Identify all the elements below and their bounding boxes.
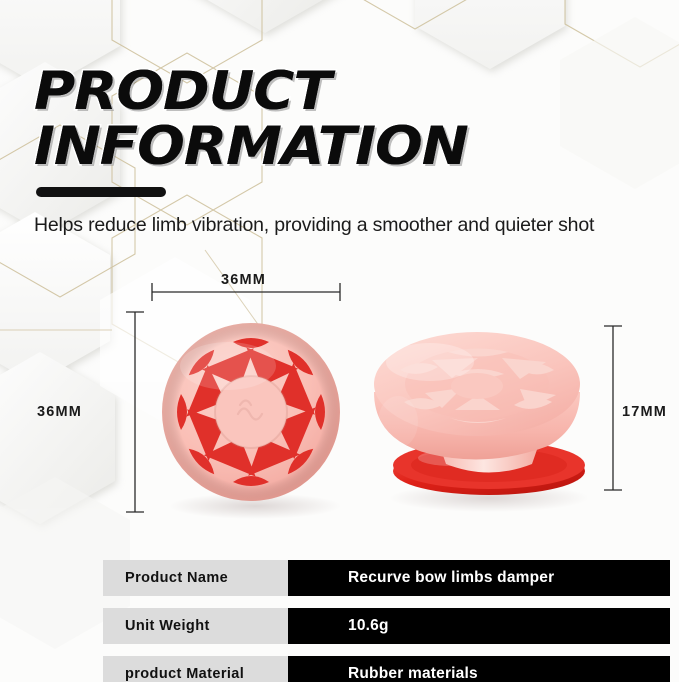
title-line-information: INFORMATION bbox=[34, 123, 679, 172]
spec-table: Product Name Recurve bow limbs damper Un… bbox=[103, 560, 679, 682]
dimension-label-width: 36MM bbox=[221, 272, 266, 288]
dimension-label-height: 36MM bbox=[37, 404, 82, 420]
product-information-page: PRODUCT INFORMATION Helps reduce limb vi… bbox=[0, 0, 679, 682]
subtitle-text: Helps reduce limb vibration, providing a… bbox=[34, 214, 664, 237]
spec-label-unit-weight: Unit Weight bbox=[103, 608, 288, 644]
spec-label-product-name: Product Name bbox=[103, 560, 288, 596]
title-line-product: PRODUCT bbox=[34, 68, 679, 117]
side-view-damper bbox=[374, 332, 589, 512]
dimension-label-thickness: 17MM bbox=[622, 404, 667, 420]
spec-value-unit-weight: 10.6g bbox=[288, 608, 670, 644]
page-title: PRODUCT INFORMATION bbox=[34, 68, 654, 172]
table-row: Product Name Recurve bow limbs damper bbox=[103, 560, 679, 596]
spec-value-product-name: Recurve bow limbs damper bbox=[288, 560, 670, 596]
title-underline-bar bbox=[36, 187, 166, 197]
spec-value-product-material: Rubber materials bbox=[288, 656, 670, 682]
product-image-stage bbox=[0, 262, 679, 530]
table-row: Unit Weight 10.6g bbox=[103, 608, 679, 644]
front-view-damper bbox=[162, 323, 341, 519]
table-row: product Material Rubber materials bbox=[103, 656, 679, 682]
spec-label-product-material: product Material bbox=[103, 656, 288, 682]
